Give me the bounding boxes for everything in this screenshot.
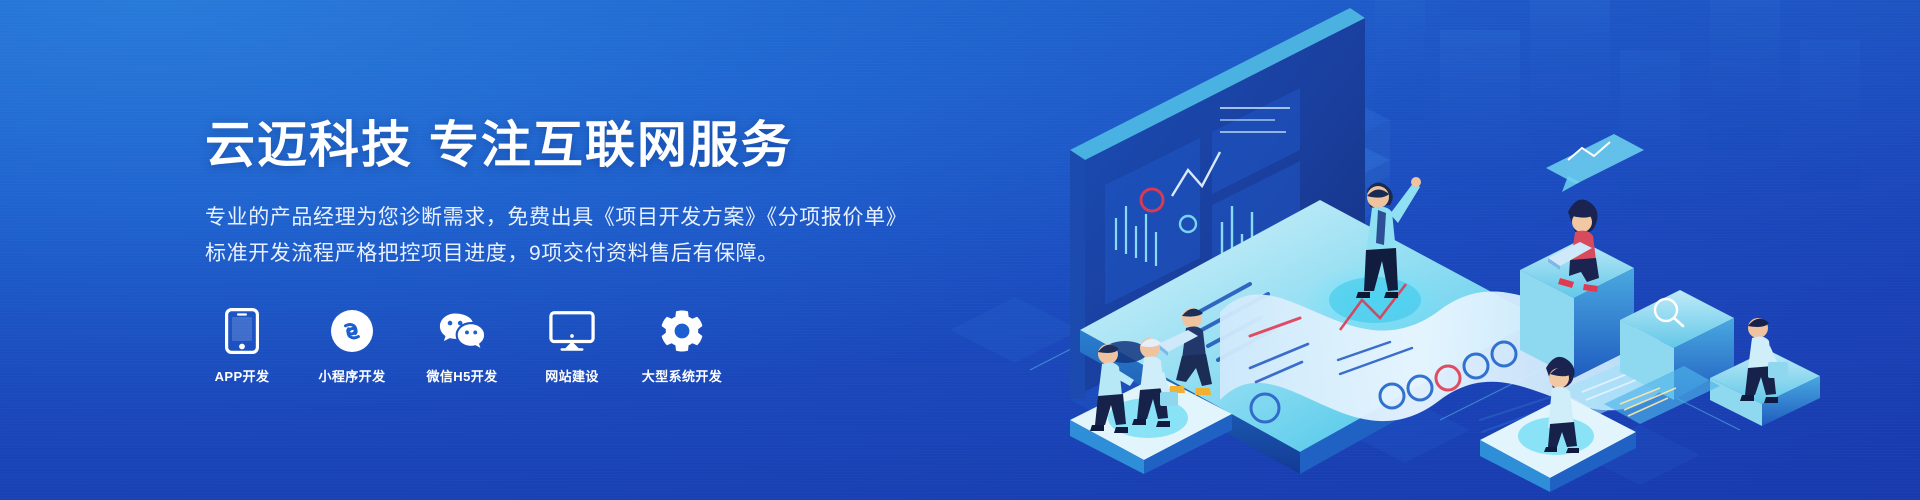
service-item-website[interactable]: 网站建设: [535, 308, 609, 383]
gear-icon: [659, 308, 705, 354]
service-label: APP开发: [215, 370, 270, 383]
service-label: 微信H5开发: [426, 370, 497, 383]
promo-banner: 云迈科技 专注互联网服务 专业的产品经理为您诊断需求，免费出具《项目开发方案》《…: [0, 0, 1920, 500]
isometric-tech-illustration: [920, 0, 1920, 500]
subtitle-line-1: 专业的产品经理为您诊断需求，免费出具《项目开发方案》《分项报价单》: [205, 200, 965, 236]
service-list: APP开发 小程序开发: [205, 308, 965, 383]
service-label: 小程序开发: [318, 370, 385, 383]
banner-content: 云迈科技 专注互联网服务 专业的产品经理为您诊断需求，免费出具《项目开发方案》《…: [205, 0, 965, 500]
service-item-app[interactable]: APP开发: [205, 308, 279, 383]
service-label: 大型系统开发: [642, 370, 722, 383]
service-item-large-system[interactable]: 大型系统开发: [645, 308, 719, 383]
mini-program-icon: [329, 308, 375, 354]
service-item-wechat-h5[interactable]: 微信H5开发: [425, 308, 499, 383]
page-title: 云迈科技 专注互联网服务: [205, 117, 965, 175]
mobile-phone-icon: [219, 308, 265, 354]
subtitle-line-2: 标准开发流程严格把控项目进度，9项交付资料售后有保障。: [205, 236, 965, 272]
service-item-mini-program[interactable]: 小程序开发: [315, 308, 389, 383]
monitor-icon: [549, 308, 595, 354]
wechat-icon: [439, 308, 485, 354]
service-label: 网站建设: [545, 370, 599, 383]
